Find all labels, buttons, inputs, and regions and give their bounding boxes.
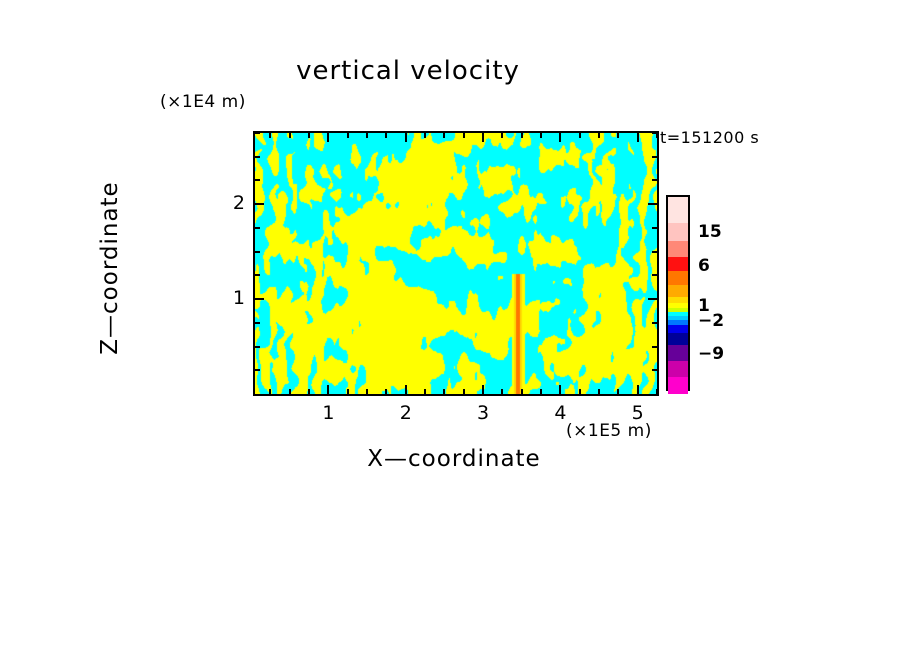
axis-tick-x-top bbox=[559, 133, 561, 142]
axis-tick-x-bottom bbox=[617, 389, 619, 394]
x-axis-title: X—coordinate bbox=[253, 446, 655, 472]
axis-tick-y-left bbox=[255, 227, 260, 229]
contour-plot-area bbox=[253, 131, 659, 396]
axis-label-x: 1 bbox=[308, 402, 348, 424]
axis-tick-x-bottom bbox=[269, 389, 271, 394]
axis-tick-y-right bbox=[652, 369, 657, 371]
plot-title-text: vertical velocity bbox=[296, 56, 520, 86]
axis-tick-y-left bbox=[255, 369, 260, 371]
axis-tick-x-bottom bbox=[405, 385, 407, 394]
axis-tick-x-top bbox=[269, 133, 271, 138]
axis-tick-y-left bbox=[255, 251, 260, 253]
axis-tick-x-bottom bbox=[327, 385, 329, 394]
axis-tick-y-right bbox=[652, 132, 657, 134]
time-annotation: t=151200 s bbox=[660, 128, 759, 147]
axis-tick-x-top bbox=[482, 133, 484, 142]
axis-label-y: 1 bbox=[215, 287, 245, 309]
axis-tick-y-right bbox=[652, 251, 657, 253]
axis-tick-x-bottom bbox=[579, 389, 581, 394]
vertical-velocity-field bbox=[255, 133, 657, 394]
axis-tick-x-bottom bbox=[637, 385, 639, 394]
axis-tick-x-top bbox=[308, 133, 310, 138]
axis-tick-x-top bbox=[637, 133, 639, 142]
axis-tick-y-left bbox=[255, 274, 260, 276]
page-title: vertical velocity bbox=[0, 56, 904, 86]
axis-tick-x-bottom bbox=[308, 389, 310, 394]
axis-tick-x-bottom bbox=[656, 389, 658, 394]
axis-tick-x-bottom bbox=[366, 389, 368, 394]
axis-tick-y-right bbox=[648, 203, 657, 205]
axis-tick-y-left bbox=[255, 322, 260, 324]
axis-tick-x-bottom bbox=[501, 389, 503, 394]
axis-label-x: 3 bbox=[463, 402, 503, 424]
colorbar-labels: 1561−2−9 bbox=[666, 195, 786, 395]
axis-tick-x-top bbox=[501, 133, 503, 138]
y-axis-title: Z—coordinate bbox=[97, 118, 123, 418]
axis-tick-x-top bbox=[598, 133, 600, 138]
axis-tick-y-left bbox=[255, 298, 264, 300]
axis-tick-x-bottom bbox=[424, 389, 426, 394]
axis-tick-x-top bbox=[289, 133, 291, 138]
colorbar-label: 15 bbox=[698, 222, 722, 242]
axis-tick-x-bottom bbox=[598, 389, 600, 394]
axis-label-x: 2 bbox=[386, 402, 426, 424]
axis-tick-x-bottom bbox=[559, 385, 561, 394]
axis-tick-y-right bbox=[648, 298, 657, 300]
axis-tick-x-top bbox=[327, 133, 329, 142]
axis-tick-y-right bbox=[652, 322, 657, 324]
axis-tick-x-bottom bbox=[521, 389, 523, 394]
axis-tick-x-top bbox=[405, 133, 407, 142]
axis-tick-x-bottom bbox=[540, 389, 542, 394]
axis-tick-x-bottom bbox=[385, 389, 387, 394]
axis-tick-y-right bbox=[652, 227, 657, 229]
axis-tick-y-right bbox=[652, 179, 657, 181]
axis-tick-x-top bbox=[385, 133, 387, 138]
axis-tick-x-bottom bbox=[347, 389, 349, 394]
axis-tick-x-top bbox=[617, 133, 619, 138]
axis-tick-y-right bbox=[652, 274, 657, 276]
z-axis-unit-label: (×1E4 m) bbox=[160, 92, 246, 112]
axis-tick-x-top bbox=[424, 133, 426, 138]
axis-tick-x-top bbox=[521, 133, 523, 138]
colorbar-label: −9 bbox=[698, 344, 724, 364]
axis-tick-x-top bbox=[443, 133, 445, 138]
axis-label-y: 2 bbox=[215, 192, 245, 214]
axis-tick-x-top bbox=[366, 133, 368, 138]
axis-tick-x-bottom bbox=[443, 389, 445, 394]
colorbar-label: 6 bbox=[698, 256, 710, 276]
axis-tick-y-left bbox=[255, 132, 260, 134]
axis-tick-x-top bbox=[579, 133, 581, 138]
axis-tick-y-left bbox=[255, 203, 264, 205]
axis-tick-x-bottom bbox=[463, 389, 465, 394]
axis-tick-y-right bbox=[652, 156, 657, 158]
axis-tick-y-left bbox=[255, 179, 260, 181]
axis-tick-x-top bbox=[463, 133, 465, 138]
axis-tick-y-left bbox=[255, 346, 260, 348]
axis-tick-y-right bbox=[652, 346, 657, 348]
x-axis-unit-label: (×1E5 m) bbox=[566, 421, 652, 441]
axis-tick-x-top bbox=[347, 133, 349, 138]
axis-tick-y-left bbox=[255, 156, 260, 158]
axis-tick-x-bottom bbox=[289, 389, 291, 394]
axis-tick-x-bottom bbox=[482, 385, 484, 394]
colorbar-label: −2 bbox=[698, 311, 724, 331]
axis-tick-x-top bbox=[540, 133, 542, 138]
